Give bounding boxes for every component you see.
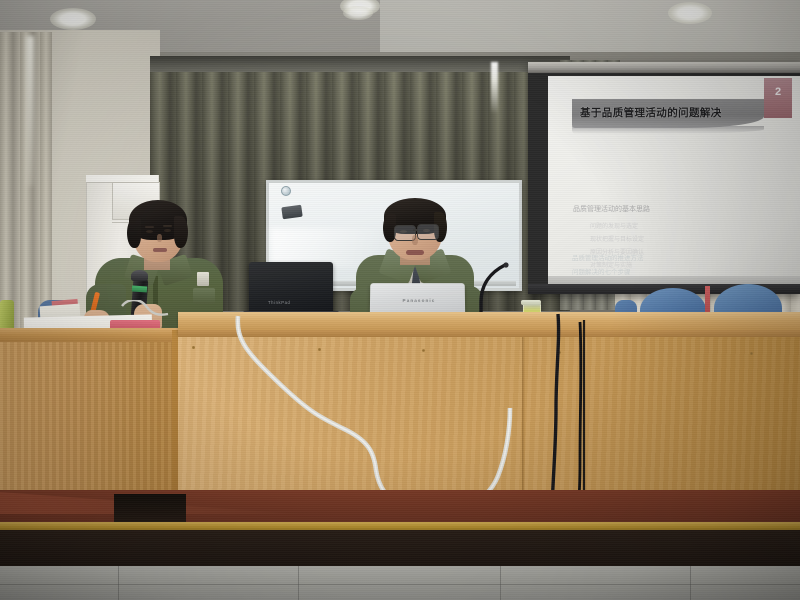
woman-mouth <box>153 248 167 252</box>
man-mouth <box>406 250 424 255</box>
woman-hair-side <box>174 216 188 248</box>
ceiling-downlight-icon <box>668 2 712 24</box>
tiled-floor <box>0 566 800 600</box>
whiteboard-magnet-icon <box>281 186 291 196</box>
ceiling-downlight-icon <box>343 6 373 20</box>
slide-bullet-sub: 现状把握与目标设定 <box>590 234 644 243</box>
presentation-slide: 2 基于品质管理活动的问题解决 品质管理活动的基本思路 问题的发现与选定 现状把… <box>548 76 800 284</box>
microphone-green-band <box>132 285 147 292</box>
ceiling-downlight-icon <box>50 8 96 30</box>
curtain-rail <box>150 56 570 72</box>
slide-bullet-sub: 问题的发现与选定 <box>590 221 638 230</box>
eyeglasses-lens <box>417 224 439 240</box>
floor-tile-grout <box>690 566 691 600</box>
floor-tile-grout <box>298 566 299 600</box>
projection-screen-surface: 2 基于品质管理活动的问题解决 品质管理活动的基本思路 问题的发现与选定 现状把… <box>548 76 800 284</box>
slide-title: 基于品质管理活动的问题解决 <box>580 105 765 120</box>
microphone-head-icon <box>131 270 148 281</box>
woman-eye <box>164 229 171 232</box>
eyeglasses-bridge <box>413 229 418 231</box>
slide-bullet-main: 品质管理活动的基本思路 <box>573 204 650 214</box>
slide-footer-band <box>548 276 800 284</box>
woman-eyebrow <box>163 225 172 227</box>
woman-hair-side <box>127 218 141 248</box>
woman-nose <box>157 234 162 242</box>
curtain-light-streak <box>491 62 498 114</box>
photo-scene: 2 基于品质管理活动的问题解决 品质管理活动的基本思路 问题的发现与选定 现状把… <box>0 0 800 600</box>
projection-screen-roller <box>528 62 800 73</box>
desk-under-shadow <box>114 494 186 522</box>
slide-bullet-lower: 品质管理活动的推进方法 <box>572 252 644 262</box>
slide-bullet-lower: 问题解决的七个步骤 <box>572 266 631 276</box>
woman-uniform-badge <box>197 272 209 286</box>
woman-eyebrow <box>145 226 154 228</box>
curtain-light-streak <box>26 36 34 186</box>
floor-tile-grout <box>0 584 800 585</box>
floor-tile-grout <box>500 566 501 600</box>
floor-tile-grout <box>118 566 119 600</box>
slide-page-tab <box>764 78 792 118</box>
slide-page-number: 2 <box>764 86 792 98</box>
man-nose <box>412 235 418 245</box>
woman-eye <box>146 230 153 233</box>
